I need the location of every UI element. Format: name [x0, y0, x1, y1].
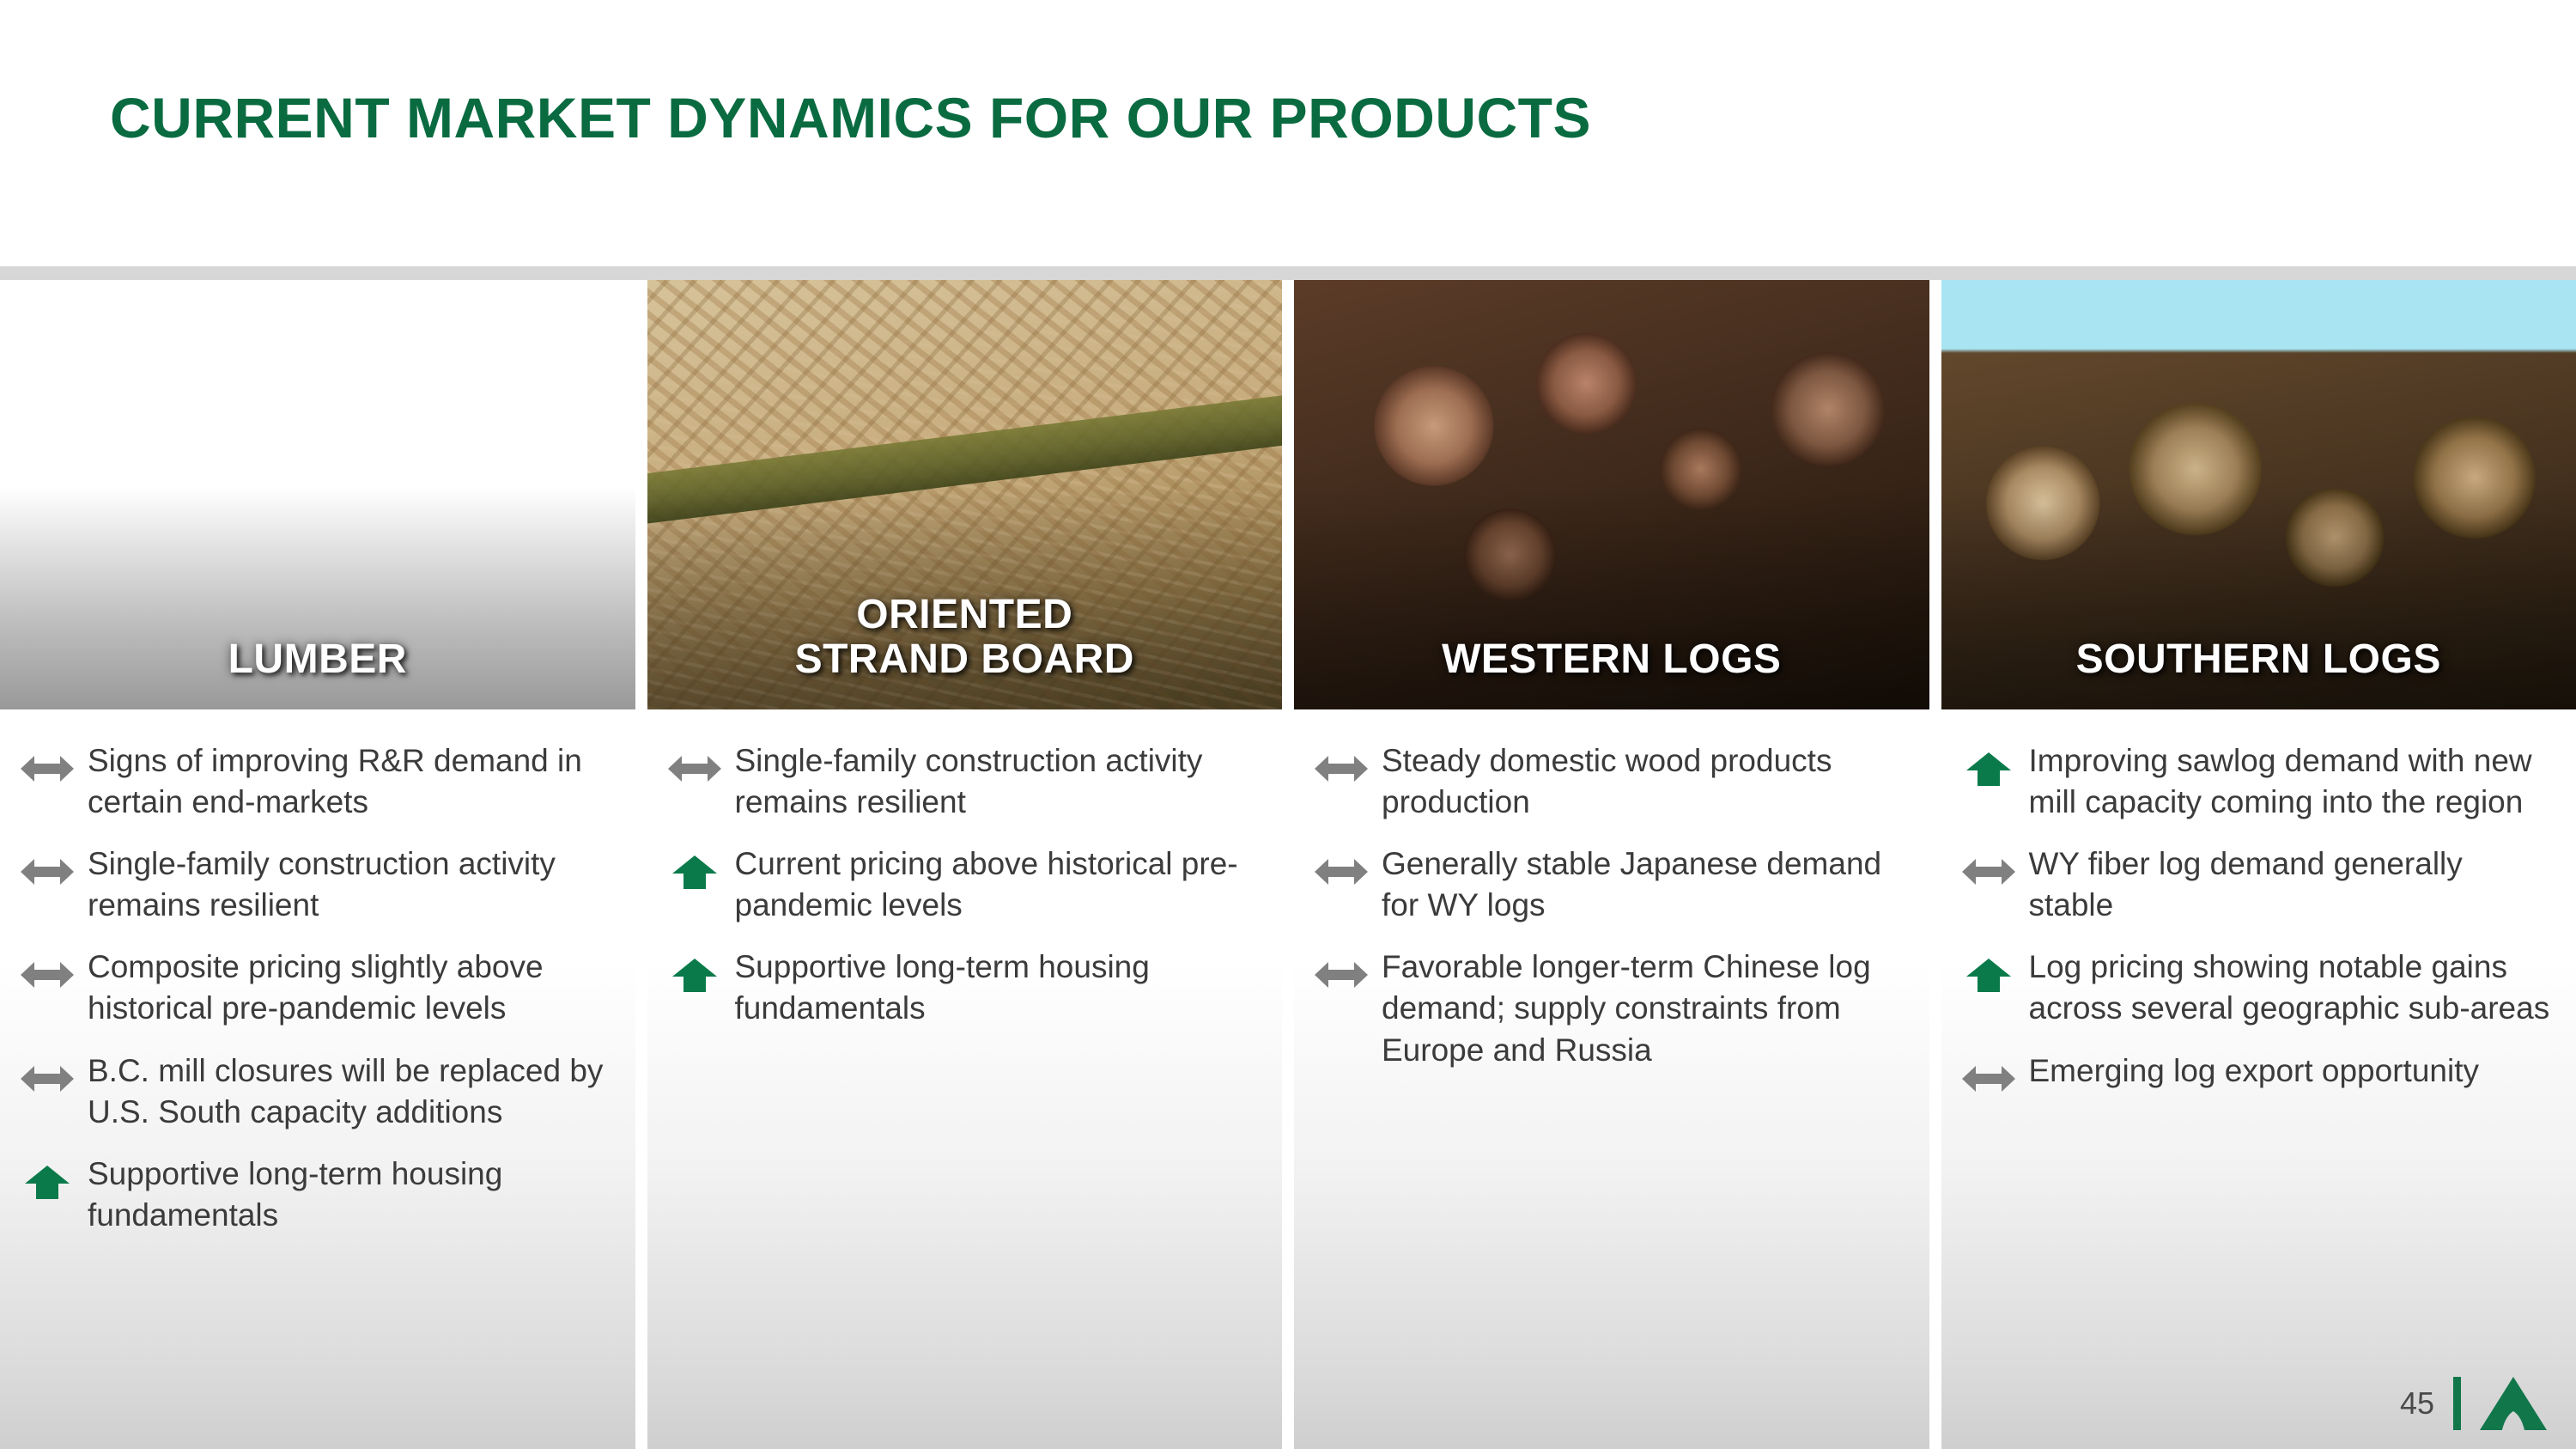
bullet-text: WY fiber log demand generally stable — [2029, 843, 2551, 926]
bullet-text: Emerging log export opportunity — [2029, 1050, 2479, 1092]
weyerhaeuser-triangle-logo — [2480, 1377, 2547, 1430]
bullet-item: Improving sawlog demand with new mill ca… — [1962, 740, 2551, 823]
up-arrow-icon — [1962, 952, 2015, 998]
bullet-text: Signs of improving R&R demand in certain… — [88, 740, 610, 823]
bullet-item: Emerging log export opportunity — [1962, 1050, 2551, 1102]
bullet-panel-southern-logs: Improving sawlog demand with new mill ca… — [1941, 709, 2576, 1449]
bullet-text: Single-family construction activity rema… — [88, 843, 610, 926]
bullet-item: Log pricing showing notable gains across… — [1962, 947, 2551, 1029]
bullet-text: Log pricing showing notable gains across… — [2029, 947, 2551, 1029]
column-caption-western-logs: WESTERN LOGS — [1294, 637, 1929, 682]
bullet-item: Single-family construction activity rema… — [21, 843, 610, 926]
product-columns: LUMBERSigns of improving R&R demand in c… — [0, 280, 2576, 1449]
product-column-southern-logs: SOUTHERN LOGSImproving sawlog demand wit… — [1941, 280, 2576, 1449]
up-arrow-icon — [1962, 746, 2015, 792]
column-caption-lumber: LUMBER — [0, 637, 635, 682]
flat-arrow-icon — [1962, 1056, 2015, 1102]
bullet-text: Generally stable Japanese demand for WY … — [1382, 843, 1904, 926]
bullet-panel-lumber: Signs of improving R&R demand in certain… — [0, 709, 635, 1449]
flat-arrow-icon — [668, 746, 721, 792]
bullet-text: B.C. mill closures will be replaced by U… — [88, 1050, 610, 1133]
bullet-item: WY fiber log demand generally stable — [1962, 843, 2551, 926]
bullet-item: Supportive long-term housing fundamental… — [668, 947, 1257, 1029]
up-arrow-icon — [668, 952, 721, 998]
bullet-panel-western-logs: Steady domestic wood products production… — [1294, 709, 1929, 1449]
bullet-panel-oriented-strand-board: Single-family construction activity rema… — [647, 709, 1283, 1449]
up-arrow-icon — [668, 849, 721, 895]
oriented-strand-board-photo: ORIENTED STRAND BOARD — [647, 280, 1283, 709]
bullet-item: Single-family construction activity rema… — [668, 740, 1257, 823]
header-divider — [0, 266, 2576, 280]
bullet-item: Supportive long-term housing fundamental… — [21, 1154, 610, 1236]
bullet-item: B.C. mill closures will be replaced by U… — [21, 1050, 610, 1133]
footer-divider-bar — [2453, 1377, 2461, 1430]
flat-arrow-icon — [21, 746, 74, 792]
bullet-text: Steady domestic wood products production — [1382, 740, 1904, 823]
bullet-text: Composite pricing slightly above histori… — [88, 947, 610, 1029]
bullet-item: Generally stable Japanese demand for WY … — [1315, 843, 1904, 926]
product-column-western-logs: WESTERN LOGSSteady domestic wood product… — [1294, 280, 1929, 1449]
product-column-lumber: LUMBERSigns of improving R&R demand in c… — [0, 280, 635, 1449]
page-title: CURRENT MARKET DYNAMICS FOR OUR PRODUCTS — [110, 89, 1591, 146]
column-caption-oriented-strand-board: ORIENTED STRAND BOARD — [647, 593, 1283, 682]
bullet-text: Current pricing above historical pre-pan… — [735, 843, 1257, 926]
bullet-text: Supportive long-term housing fundamental… — [735, 947, 1257, 1029]
bullet-item: Steady domestic wood products production — [1315, 740, 1904, 823]
bullet-text: Favorable longer-term Chinese log demand… — [1382, 947, 1904, 1070]
bullet-text: Supportive long-term housing fundamental… — [88, 1154, 610, 1236]
flat-arrow-icon — [1315, 849, 1368, 895]
product-column-oriented-strand-board: ORIENTED STRAND BOARDSingle-family const… — [647, 280, 1283, 1449]
bullet-text: Improving sawlog demand with new mill ca… — [2029, 740, 2551, 823]
up-arrow-icon — [21, 1159, 74, 1205]
western-logs-stack-photo: WESTERN LOGS — [1294, 280, 1929, 709]
southern-logs-stack-photo: SOUTHERN LOGS — [1941, 280, 2576, 709]
flat-arrow-icon — [1962, 849, 2015, 895]
flat-arrow-icon — [1315, 952, 1368, 998]
bullet-text: Single-family construction activity rema… — [735, 740, 1257, 823]
slide-footer: 45 — [2400, 1377, 2547, 1430]
column-caption-southern-logs: SOUTHERN LOGS — [1941, 637, 2576, 682]
stacked-lumber-boards-photo: LUMBER — [0, 280, 635, 709]
bullet-item: Composite pricing slightly above histori… — [21, 947, 610, 1029]
flat-arrow-icon — [21, 1056, 74, 1102]
bullet-item: Favorable longer-term Chinese log demand… — [1315, 947, 1904, 1070]
flat-arrow-icon — [1315, 746, 1368, 792]
bullet-item: Current pricing above historical pre-pan… — [668, 843, 1257, 926]
page-number: 45 — [2400, 1385, 2434, 1422]
slide-header: CURRENT MARKET DYNAMICS FOR OUR PRODUCTS — [0, 0, 2576, 268]
flat-arrow-icon — [21, 849, 74, 895]
flat-arrow-icon — [21, 952, 74, 998]
bullet-item: Signs of improving R&R demand in certain… — [21, 740, 610, 823]
